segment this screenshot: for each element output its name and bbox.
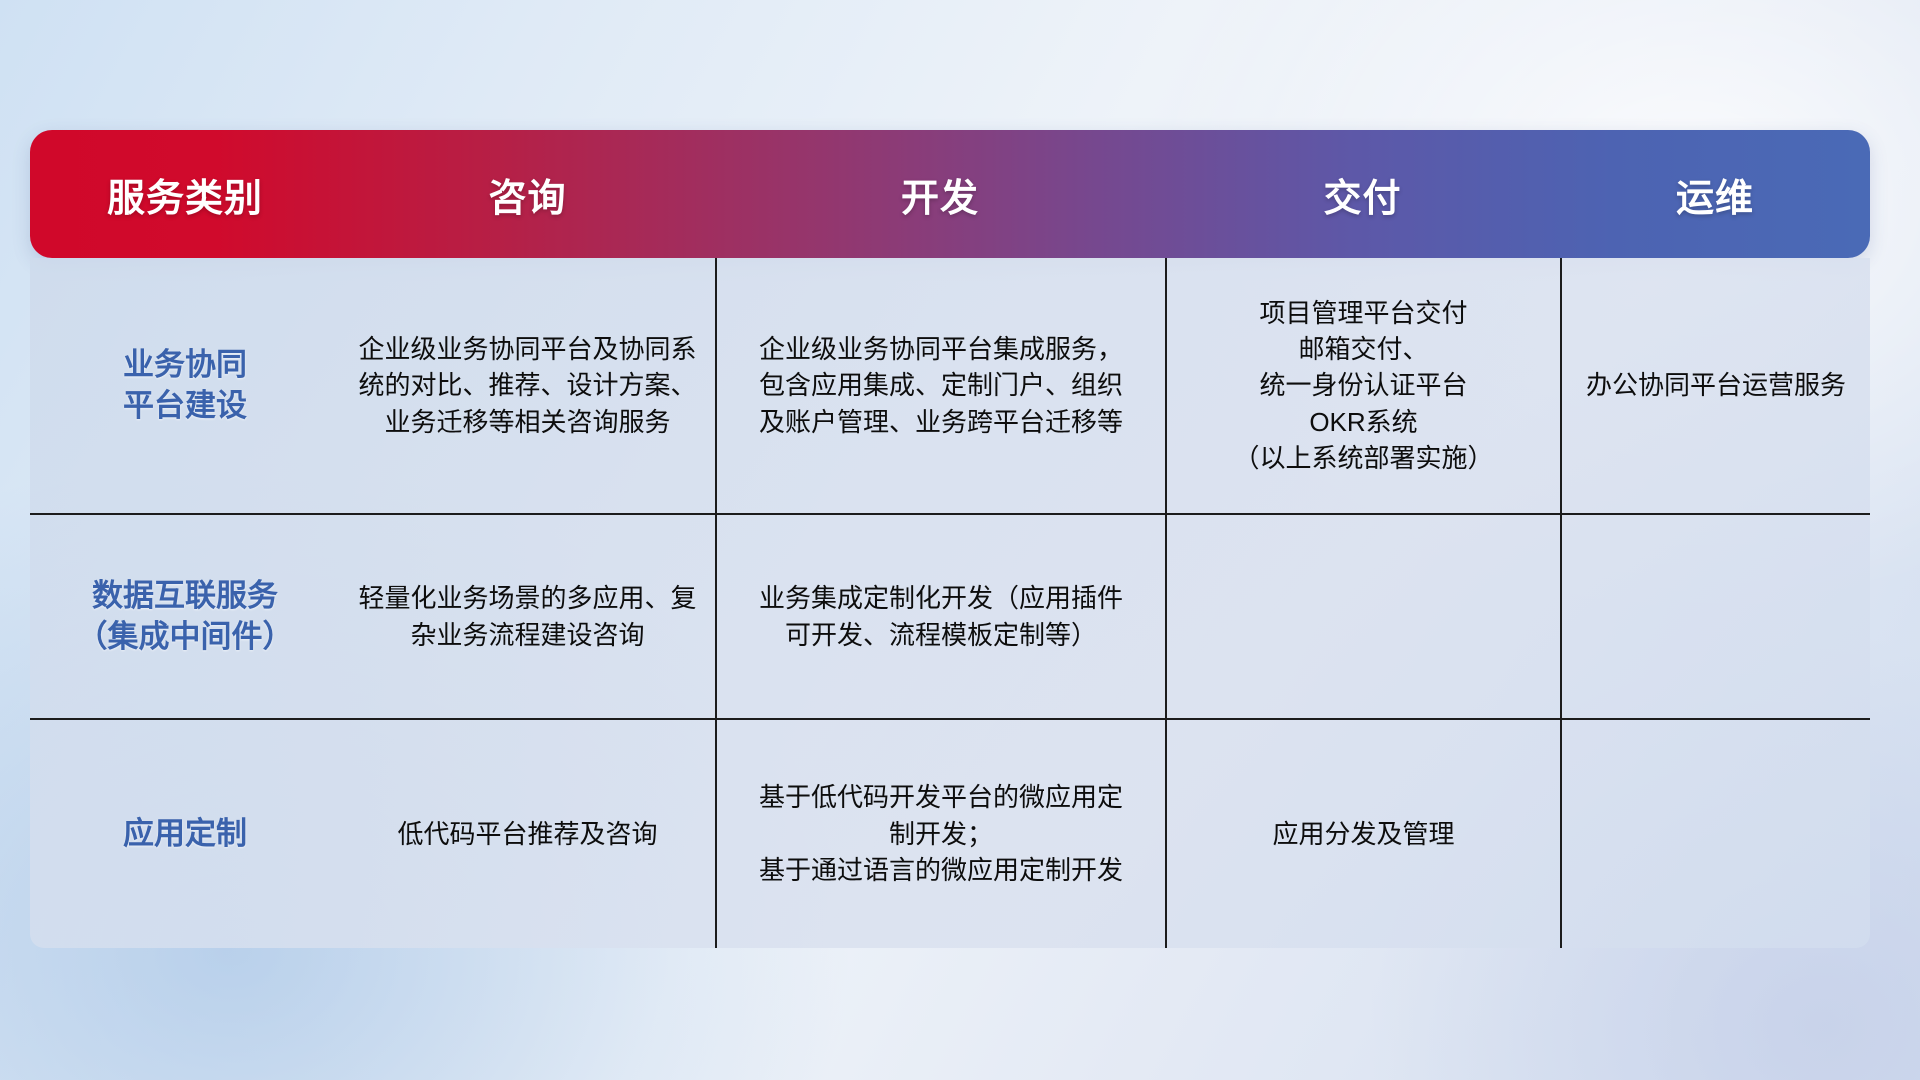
row-1-category: 业务协同平台建设 — [30, 258, 340, 513]
header-cell-development: 开发 — [715, 167, 1165, 222]
header-cell-operations: 运维 — [1560, 167, 1870, 222]
slide-canvas: 服务类别 咨询 开发 交付 运维 业务协同平台建设 企业级业务协同平台及协同系统… — [0, 0, 1920, 1080]
table-body: 业务协同平台建设 企业级业务协同平台及协同系统的对比、推荐、设计方案、业务迁移等… — [30, 258, 1870, 948]
row-3-consulting: 低代码平台推荐及咨询 — [340, 720, 715, 948]
row-1-development: 企业级业务协同平台集成服务，包含应用集成、定制门户、组织及账户管理、业务跨平台迁… — [717, 258, 1165, 513]
header-cell-consulting: 咨询 — [340, 167, 715, 222]
row-2-operations — [1562, 515, 1870, 718]
header-cell-category: 服务类别 — [30, 167, 340, 222]
row-1-operations: 办公协同平台运营服务 — [1562, 258, 1870, 513]
row-2-consulting: 轻量化业务场景的多应用、复杂业务流程建设咨询 — [340, 515, 715, 718]
row-1-delivery: 项目管理平台交付邮箱交付、统一身份认证平台OKR系统（以上系统部署实施） — [1167, 258, 1560, 513]
row-1-consulting: 企业级业务协同平台及协同系统的对比、推荐、设计方案、业务迁移等相关咨询服务 — [340, 258, 715, 513]
header-cell-delivery: 交付 — [1165, 167, 1560, 222]
row-3-development: 基于低代码开发平台的微应用定制开发；基于通过语言的微应用定制开发 — [717, 720, 1165, 948]
row-3-category: 应用定制 — [30, 720, 340, 948]
row-2-category: 数据互联服务（集成中间件） — [30, 515, 340, 718]
table-header-bar: 服务类别 咨询 开发 交付 运维 — [30, 130, 1870, 258]
row-3-operations — [1562, 720, 1870, 948]
row-2-development: 业务集成定制化开发（应用插件可开发、流程模板定制等） — [717, 515, 1165, 718]
row-2-delivery — [1167, 515, 1560, 718]
row-3-delivery: 应用分发及管理 — [1167, 720, 1560, 948]
